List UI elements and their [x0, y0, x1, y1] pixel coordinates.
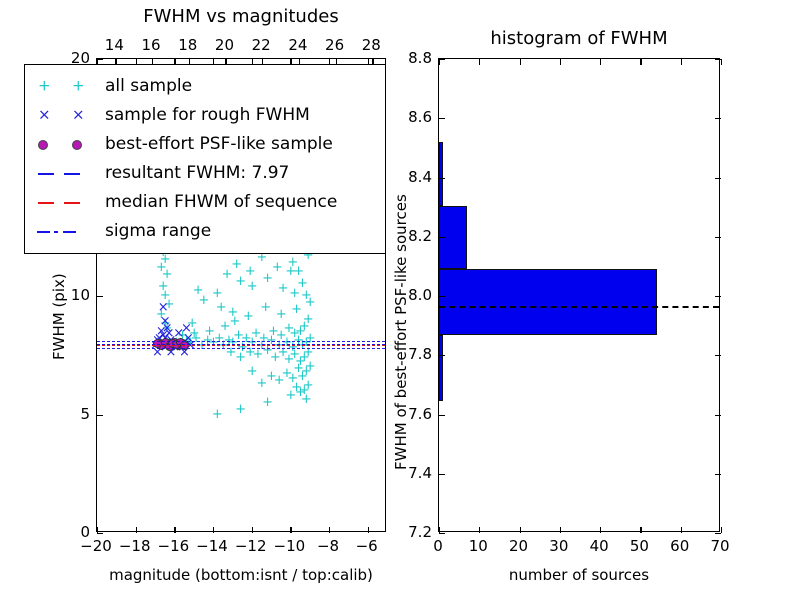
histogram-x-axis-label: number of sources	[438, 566, 720, 584]
y-tick-label: 8.4	[388, 168, 432, 186]
legend-entry: ++all sample	[25, 71, 385, 100]
axis-tick	[290, 527, 291, 533]
y-axis-tick	[97, 59, 103, 60]
x-tick-label: −10	[271, 537, 307, 555]
y-axis-tick	[439, 533, 445, 534]
legend-entry: median FHWM of sequence	[25, 187, 385, 216]
y-axis-tick	[439, 415, 445, 416]
legend-label: resultant FWHM: 7.97	[105, 163, 289, 183]
y-axis-tick	[97, 296, 103, 297]
axis-tick	[479, 527, 480, 533]
histogram-plot-area	[438, 58, 720, 532]
legend-entry: ××sample for rough FWHM	[25, 100, 385, 129]
axis-tick	[252, 527, 253, 533]
legend-marker-dashdot-line-icon	[31, 220, 105, 242]
legend-marker-cross-icon: ××	[31, 104, 105, 126]
legend: ++all sample××sample for rough FWHMbest-…	[24, 64, 386, 254]
axis-tick	[329, 527, 330, 533]
legend-entry: resultant FWHM: 7.97	[25, 158, 385, 187]
y-axis-tick	[715, 415, 721, 416]
x-tick-label: 10	[460, 537, 496, 555]
y-axis-tick	[439, 474, 445, 475]
axis-tick	[368, 527, 369, 533]
y-axis-tick	[97, 533, 103, 534]
axis-tick	[479, 59, 480, 65]
axis-tick	[721, 527, 722, 533]
y-axis-tick	[439, 118, 445, 119]
y-axis-tick	[715, 474, 721, 475]
y-axis-tick	[439, 178, 445, 179]
axis-tick	[721, 59, 722, 65]
x-tick-label: −18	[117, 537, 153, 555]
x-tick-label: 20	[501, 537, 537, 555]
axis-tick	[640, 527, 641, 533]
histogram-ticks	[439, 59, 719, 531]
y-tick-label: 5	[50, 405, 90, 423]
axis-tick	[174, 527, 175, 533]
top-x-tick-label: 26	[317, 36, 353, 54]
legend-marker-plus-icon: ++	[31, 75, 105, 97]
y-tick-label: 8.6	[388, 108, 432, 126]
top-x-tick-label: 18	[170, 36, 206, 54]
figure-canvas: FWHM vs magnitudes +++++++++++++++++++++…	[0, 0, 800, 600]
axis-tick	[681, 59, 682, 65]
histogram-title: histogram of FWHM	[438, 28, 720, 49]
x-tick-label: 40	[581, 537, 617, 555]
scatter-y-axis-label: FWHM (pix)	[50, 273, 68, 360]
scatter-x-axis-label: magnitude (bottom:isnt / top:calib)	[86, 566, 396, 584]
x-tick-label: −14	[194, 537, 230, 555]
legend-entry: sigma range	[25, 216, 385, 245]
axis-tick	[600, 59, 601, 65]
legend-marker-dashed-line-icon	[31, 191, 105, 213]
legend-marker-dashed-line-icon	[31, 162, 105, 184]
top-x-tick-label: 20	[206, 36, 242, 54]
y-axis-tick	[439, 296, 445, 297]
y-axis-tick	[715, 59, 721, 60]
x-tick-label: −6	[349, 537, 385, 555]
legend-label: sample for rough FWHM	[105, 105, 310, 125]
y-axis-tick	[715, 355, 721, 356]
y-axis-tick	[439, 59, 445, 60]
y-axis-tick	[715, 118, 721, 119]
axis-tick	[600, 527, 601, 533]
axis-tick	[681, 527, 682, 533]
axis-tick	[520, 59, 521, 65]
y-axis-tick	[439, 237, 445, 238]
x-tick-label: 50	[621, 537, 657, 555]
y-axis-tick	[97, 415, 103, 416]
top-x-tick-label: 22	[243, 36, 279, 54]
y-tick-label: 8.8	[388, 49, 432, 67]
y-axis-tick	[715, 533, 721, 534]
axis-tick	[520, 527, 521, 533]
legend-label: sigma range	[105, 221, 211, 241]
legend-marker-circle-icon	[31, 133, 105, 155]
axis-tick	[640, 59, 641, 65]
x-tick-label: −8	[310, 537, 346, 555]
top-x-tick-label: 24	[280, 36, 316, 54]
legend-entry: best-effort PSF-like sample	[25, 129, 385, 158]
y-tick-label: 7.2	[388, 523, 432, 541]
y-axis-tick	[439, 355, 445, 356]
x-tick-label: −16	[155, 537, 191, 555]
y-axis-tick	[715, 178, 721, 179]
y-tick-label: 0	[50, 523, 90, 541]
axis-tick	[560, 59, 561, 65]
y-axis-tick	[715, 296, 721, 297]
legend-label: all sample	[105, 76, 192, 96]
x-tick-label: 30	[541, 537, 577, 555]
legend-label: best-effort PSF-like sample	[105, 134, 333, 154]
top-x-tick-label: 14	[96, 36, 132, 54]
top-x-tick-label: 16	[133, 36, 169, 54]
x-tick-label: −12	[233, 537, 269, 555]
scatter-title: FWHM vs magnitudes	[96, 6, 386, 27]
y-axis-tick	[715, 237, 721, 238]
axis-tick	[213, 527, 214, 533]
top-x-tick-label: 28	[353, 36, 389, 54]
legend-label: median FHWM of sequence	[105, 192, 337, 212]
x-tick-label: 60	[662, 537, 698, 555]
axis-tick	[560, 527, 561, 533]
histogram-y-axis-label: FWHM of best-effort PSF-like sources	[392, 194, 410, 470]
x-tick-label: 70	[702, 537, 738, 555]
axis-tick	[136, 527, 137, 533]
